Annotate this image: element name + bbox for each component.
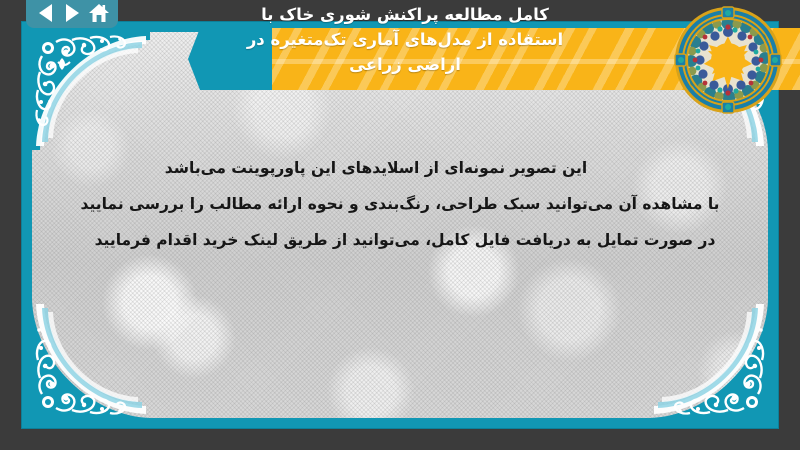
slide-navigation-bar[interactable]	[26, 0, 118, 28]
home-icon	[88, 3, 110, 23]
arabesque-corner-icon	[650, 300, 768, 418]
body-line-2: با مشاهده آن می‌توانید سبک طراحی، رنگ‌بن…	[72, 186, 728, 222]
previous-slide-button[interactable]	[34, 2, 56, 24]
title-line-1: کامل مطالعه پراکنش شوری خاک با	[150, 2, 660, 27]
slide-title: کامل مطالعه پراکنش شوری خاک با استفاده ا…	[150, 2, 660, 77]
title-line-2: استفاده از مدل‌های آماری تک‌متغیره در	[150, 27, 660, 52]
arabesque-corner-icon	[32, 32, 150, 150]
body-line-1: این تصویر نمونه‌ای از اسلایدهای این پاور…	[72, 150, 728, 186]
title-line-3: اراضی زراعی	[150, 52, 660, 77]
slide-canvas: این تصویر نمونه‌ای از اسلایدهای این پاور…	[0, 0, 800, 450]
body-line-3: در صورت تمایل به دریافت فایل کامل، می‌تو…	[72, 222, 728, 258]
triangle-right-icon	[66, 4, 79, 22]
persian-medallion-icon	[674, 6, 782, 114]
home-button[interactable]	[88, 2, 110, 24]
arabesque-corner-icon	[32, 300, 150, 418]
next-slide-button[interactable]	[61, 2, 83, 24]
slide-body-text: این تصویر نمونه‌ای از اسلایدهای این پاور…	[72, 150, 728, 258]
triangle-left-icon	[39, 4, 52, 22]
